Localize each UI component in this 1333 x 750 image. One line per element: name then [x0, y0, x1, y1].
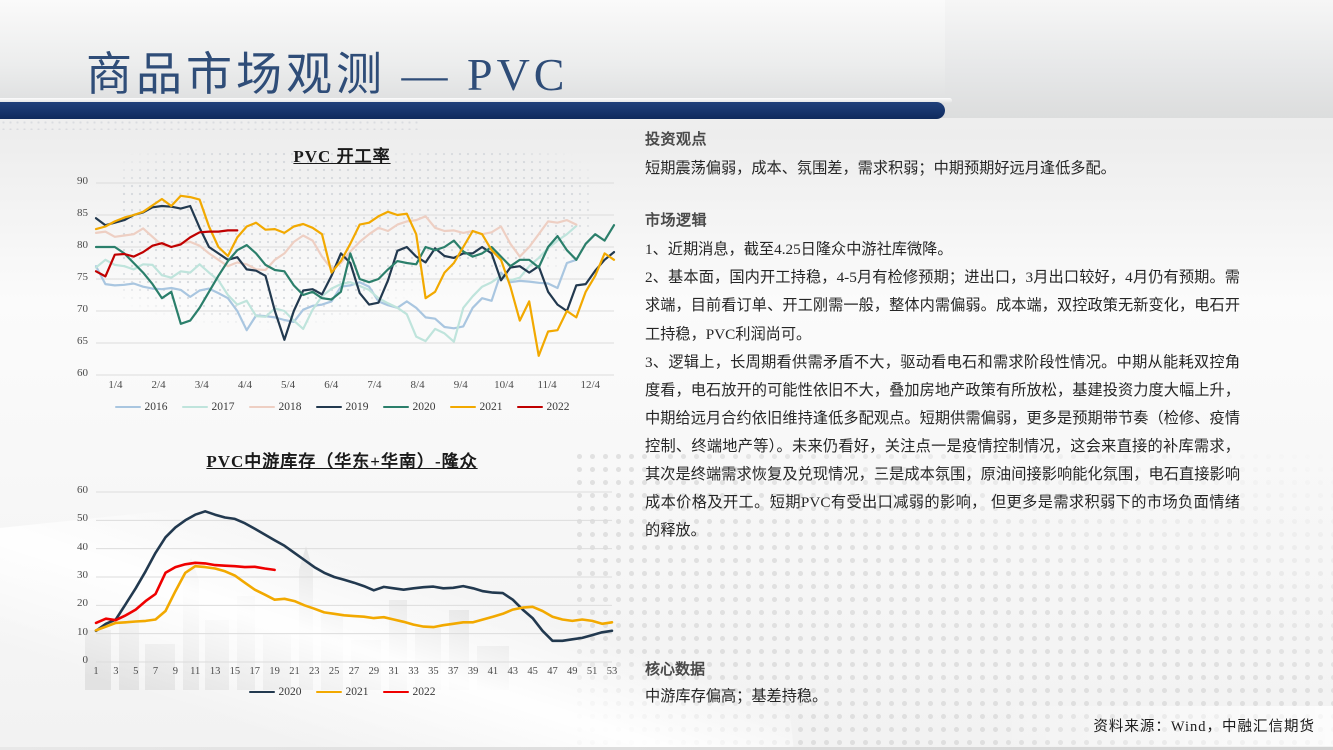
y-axis-tick-label: 0 [62, 654, 88, 666]
legend-item-2021[interactable]: 2021 [450, 401, 503, 413]
legend-label: 2020 [279, 686, 302, 698]
legend-label: 2016 [145, 401, 168, 413]
legend-swatch-icon [249, 406, 275, 408]
series-line-2019 [96, 206, 614, 340]
legend-label: 2022 [413, 686, 436, 698]
page-title: 商品市场观测 — PVC [86, 38, 568, 104]
legend-item-2021[interactable]: 2021 [316, 686, 369, 698]
legend-item-2020[interactable]: 2020 [383, 401, 436, 413]
legend-item-2020[interactable]: 2020 [249, 686, 302, 698]
market-logic-point-3: 3、逻辑上，长周期看供需矛盾不大，驱动看电石和需求阶段性情况。中期从能耗双控角度… [645, 349, 1240, 546]
section-body-core-data: 中游库存偏高；基差持稳。 [645, 684, 827, 706]
legend-swatch-icon [517, 406, 543, 408]
section-heading-investment-view: 投资观点 [645, 128, 1240, 149]
chart-midstream-inventory: PVC中游库存（华东+华南）-隆众 0102030405060135791113… [62, 447, 622, 698]
x-axis-tick-label: 11/4 [529, 379, 565, 391]
legend-swatch-icon [182, 406, 208, 408]
y-axis-tick-label: 65 [62, 335, 88, 347]
x-axis-tick-label: 1/4 [97, 379, 133, 391]
series-line-2020 [96, 511, 612, 641]
y-axis-tick-label: 20 [62, 597, 88, 609]
y-axis-tick-label: 75 [62, 271, 88, 283]
x-axis-tick-label: 4/4 [227, 379, 263, 391]
y-axis-tick-label: 30 [62, 569, 88, 581]
y-axis-tick-label: 40 [62, 541, 88, 553]
section-body-investment-view: 短期震荡偏弱，成本、氛围差，需求积弱；中期预期好远月逢低多配。 [645, 155, 1240, 183]
legend-swatch-icon [450, 406, 476, 408]
source-note: 资料来源：Wind，中融汇信期货 [1093, 715, 1315, 736]
legend-label: 2021 [480, 401, 503, 413]
title-accent-bar [0, 102, 945, 119]
chart-operating-rate: PVC 开工率 606570758085901/42/43/44/45/46/4… [62, 142, 622, 413]
y-axis-tick-label: 70 [62, 303, 88, 315]
x-axis-tick-label: 6/4 [313, 379, 349, 391]
pvc-midstream-inventory-svg [62, 484, 622, 682]
market-logic-point-1: 1、近期消息，截至4.25日隆众中游社库微降。 [645, 236, 1240, 264]
legend-swatch-icon [115, 406, 141, 408]
x-axis-tick-label: 7/4 [356, 379, 392, 391]
chart2-title: PVC中游库存（华东+华南）-隆众 [62, 447, 622, 472]
market-logic-point-2: 2、基本面，国内开工持稳，4-5月有检修预期；进出口，3月出口较好，4月仍有预期… [645, 264, 1240, 348]
pvc-operating-rate-svg [62, 175, 622, 397]
section-heading-core-data: 核心数据 [645, 658, 705, 679]
series-line-2017 [96, 226, 576, 342]
legend-swatch-icon [249, 691, 275, 694]
chart1-title: PVC 开工率 [62, 142, 622, 167]
legend-swatch-icon [316, 691, 342, 694]
slide-root: 商品市场观测 — PVC PVC 开工率 606570758085901/42/… [0, 0, 1333, 750]
legend-label: 2017 [212, 401, 235, 413]
chart1-legend: 2016201720182019202020212022 [62, 401, 622, 413]
legend-swatch-icon [383, 406, 409, 408]
y-axis-tick-label: 60 [62, 484, 88, 496]
y-axis-tick-label: 60 [62, 367, 88, 379]
chart2-legend: 202020212022 [62, 686, 622, 698]
chart2-plot-area: 0102030405060135791113151719212325272931… [62, 484, 622, 682]
legend-item-2022[interactable]: 2022 [383, 686, 436, 698]
legend-label: 2020 [413, 401, 436, 413]
y-axis-tick-label: 90 [62, 175, 88, 187]
y-axis-tick-label: 50 [62, 512, 88, 524]
header-band-right [945, 0, 1333, 118]
x-axis-tick-label: 9/4 [443, 379, 479, 391]
x-axis-tick-label: 3/4 [184, 379, 220, 391]
section-heading-market-logic: 市场逻辑 [645, 209, 1240, 230]
legend-label: 2021 [346, 686, 369, 698]
legend-label: 2022 [547, 401, 570, 413]
y-axis-tick-label: 10 [62, 626, 88, 638]
legend-item-2016[interactable]: 2016 [115, 401, 168, 413]
legend-label: 2019 [346, 401, 369, 413]
legend-item-2019[interactable]: 2019 [316, 401, 369, 413]
x-axis-tick-label: 8/4 [400, 379, 436, 391]
legend-item-2018[interactable]: 2018 [249, 401, 302, 413]
y-axis-tick-label: 85 [62, 207, 88, 219]
y-axis-tick-label: 80 [62, 239, 88, 251]
x-axis-tick-label: 12/4 [572, 379, 608, 391]
x-axis-tick-label: 10/4 [486, 379, 522, 391]
commentary-panel: 投资观点 短期震荡偏弱，成本、氛围差，需求积弱；中期预期好远月逢低多配。 市场逻… [645, 128, 1240, 546]
legend-item-2022[interactable]: 2022 [517, 401, 570, 413]
x-axis-tick-label: 53 [594, 666, 630, 677]
legend-item-2017[interactable]: 2017 [182, 401, 235, 413]
legend-label: 2018 [279, 401, 302, 413]
legend-swatch-icon [383, 691, 409, 694]
chart1-plot-area: 606570758085901/42/43/44/45/46/47/48/49/… [62, 175, 622, 397]
x-axis-tick-label: 2/4 [141, 379, 177, 391]
legend-swatch-icon [316, 406, 342, 408]
x-axis-tick-label: 5/4 [270, 379, 306, 391]
